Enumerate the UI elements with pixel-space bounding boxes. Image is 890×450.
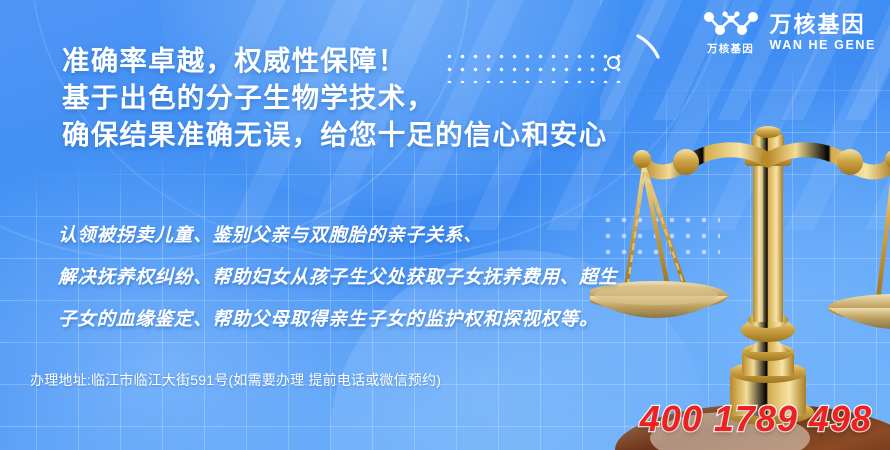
molecule-icon xyxy=(703,9,759,39)
headline-line-3: 确保结果准确无误，给您十足的信心和安心 xyxy=(62,116,682,153)
body-line-3: 子女的血缘鉴定、帮助父母取得亲生子女的监护权和探视权等。 xyxy=(58,298,698,340)
headline-line-2: 基于出色的分子生物学技术， xyxy=(62,79,682,116)
office-address: 办理地址:临江市临江大街591号(如需要办理 提前电话或微信预约) xyxy=(30,370,441,390)
headline-line-1: 准确率卓越，权威性保障！ xyxy=(62,42,682,79)
brand-name-en: WAN HE GENE xyxy=(770,37,877,53)
headline-block: 准确率卓越，权威性保障！ 基于出色的分子生物学技术， 确保结果准确无误，给您十足… xyxy=(62,42,682,153)
logo-text: 万核基因 WAN HE GENE xyxy=(770,12,877,53)
hotline-phone-number[interactable]: 400 1789 498 xyxy=(640,398,872,440)
brand-logo[interactable]: 万核基因 万核基因 WAN HE GENE xyxy=(703,9,877,56)
brand-name-cn: 万核基因 xyxy=(770,12,866,37)
logo-mark-label: 万核基因 xyxy=(707,41,754,56)
body-line-2: 解决抚养权纠纷、帮助妇女从孩子生父处获取子女抚养费用、超生 xyxy=(58,256,698,298)
logo-mark: 万核基因 xyxy=(703,9,759,56)
promo-banner: 准确率卓越，权威性保障！ 基于出色的分子生物学技术， 确保结果准确无误，给您十足… xyxy=(0,0,890,450)
body-line-1: 认领被拐卖儿童、鉴别父亲与双胞胎的亲子关系、 xyxy=(58,214,698,256)
body-copy-block: 认领被拐卖儿童、鉴别父亲与双胞胎的亲子关系、 解决抚养权纠纷、帮助妇女从孩子生父… xyxy=(58,214,698,340)
